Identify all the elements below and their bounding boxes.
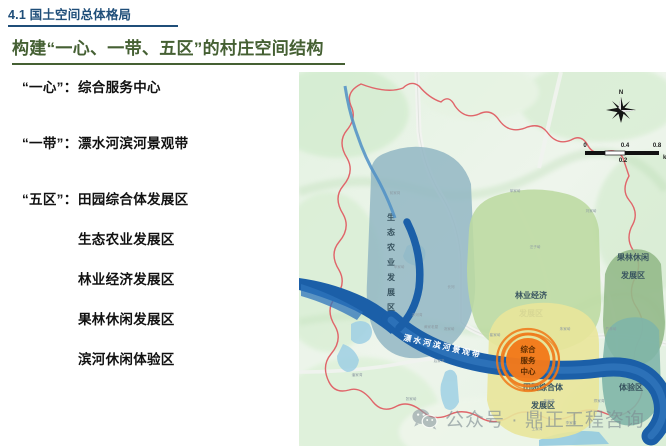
svg-text:展: 展: [386, 288, 395, 297]
section-number-title: 4.1 国土空间总体格局: [8, 4, 308, 23]
scale-tick-02: 0.2: [619, 158, 628, 164]
bullet-key-five-zones: “五区”：: [0, 188, 78, 208]
sub-item-row-2: 林业经济发展区: [0, 268, 296, 288]
bullet-key-one-belt: “一带”：: [0, 132, 78, 152]
spacer: [0, 96, 296, 132]
sub-item-orchard-leisure: 果林休闲发展区: [78, 308, 175, 328]
center-marker-label: 综合 服务 中心: [521, 344, 536, 376]
north-arrow-letter: N: [619, 90, 623, 96]
section-underline: [8, 25, 178, 27]
svg-text:刘家坳: 刘家坳: [586, 208, 597, 213]
svg-text:冲河湾: 冲河湾: [412, 312, 423, 317]
svg-text:朱家坳: 朱家坳: [560, 326, 571, 331]
svg-text:王家湾: 王家湾: [532, 426, 543, 431]
svg-text:张家坳: 张家坳: [406, 396, 417, 401]
svg-text:李家湾: 李家湾: [566, 420, 577, 425]
sub-item-row-1: 生态农业发展区: [0, 228, 296, 248]
bullet-value-one-belt: 漂水河滨河景观带: [78, 132, 188, 152]
section-header: 4.1 国土空间总体格局: [8, 4, 308, 27]
svg-text:农: 农: [386, 242, 395, 252]
svg-text:发展区: 发展区: [620, 270, 645, 280]
svg-text:郑家湾: 郑家湾: [594, 398, 605, 403]
sub-item-eco-agriculture: 生态农业发展区: [78, 228, 175, 248]
village-spatial-structure-map: 生 态 农 业 发 展 区 林业经济 发展区 果林休闲 发展区: [299, 72, 666, 446]
scale-tick-08: 0.8: [653, 143, 662, 149]
svg-text:发: 发: [386, 272, 396, 282]
map-center-marker-comprehensive-service[interactable]: 综合 服务 中心: [497, 329, 559, 391]
svg-text:陈家湾: 陈家湾: [544, 398, 555, 403]
svg-text:态: 态: [387, 227, 395, 237]
bullet-value-five-zones: 田园综合体发展区: [78, 188, 188, 208]
bullet-key-one-center: “一心”：: [0, 76, 78, 96]
main-heading-text: 构建“一心、一带、五区”的村庄空间结构: [12, 34, 357, 59]
sub-item-row-4: 滨河休闲体验区: [0, 348, 296, 368]
bullet-row-five-zones: “五区”： 田园综合体发展区: [0, 188, 296, 208]
main-heading-underline: [12, 63, 345, 65]
structure-bullet-list: “一心”： 综合服务中心 “一带”： 漂水河滨河景观带 “五区”： 田园综合体发…: [0, 76, 296, 368]
svg-text:潘家湾: 潘家湾: [352, 372, 363, 377]
sub-item-riverside-leisure: 滨河休闲体验区: [78, 348, 175, 368]
svg-text:汤家坳: 汤家坳: [444, 326, 455, 331]
bullet-value-one-center: 综合服务中心: [78, 76, 161, 96]
svg-text:果林休闲: 果林休闲: [616, 252, 649, 262]
bullet-row-one-center: “一心”： 综合服务中心: [0, 76, 296, 96]
svg-text:前家岗: 前家岗: [390, 190, 401, 195]
svg-text:竹林坳: 竹林坳: [606, 326, 617, 331]
svg-text:汪子坳: 汪子坳: [530, 244, 541, 249]
svg-text:后家冲: 后家冲: [434, 358, 445, 363]
bullet-row-one-belt: “一带”： 漂水河滨河景观带: [0, 132, 296, 152]
svg-text:综合: 综合: [521, 344, 536, 354]
svg-text:体验区: 体验区: [619, 382, 643, 392]
main-heading: 构建“一心、一带、五区”的村庄空间结构: [12, 34, 357, 65]
svg-text:长河: 长河: [447, 284, 455, 289]
spacer: [0, 152, 296, 188]
svg-text:中心: 中心: [521, 366, 536, 376]
svg-text:崔家坳: 崔家坳: [490, 332, 501, 337]
svg-text:服务: 服务: [521, 355, 536, 365]
svg-text:林业经济: 林业经济: [515, 290, 548, 300]
svg-text:单家坳: 单家坳: [510, 188, 521, 193]
scale-tick-04: 0.4: [621, 143, 630, 149]
svg-text:甲家坳: 甲家坳: [394, 264, 405, 269]
svg-text:黄家老屋: 黄家老屋: [424, 324, 439, 329]
sub-item-row-3: 果林休闲发展区: [0, 308, 296, 328]
sub-item-forestry-economy: 林业经济发展区: [78, 268, 175, 288]
